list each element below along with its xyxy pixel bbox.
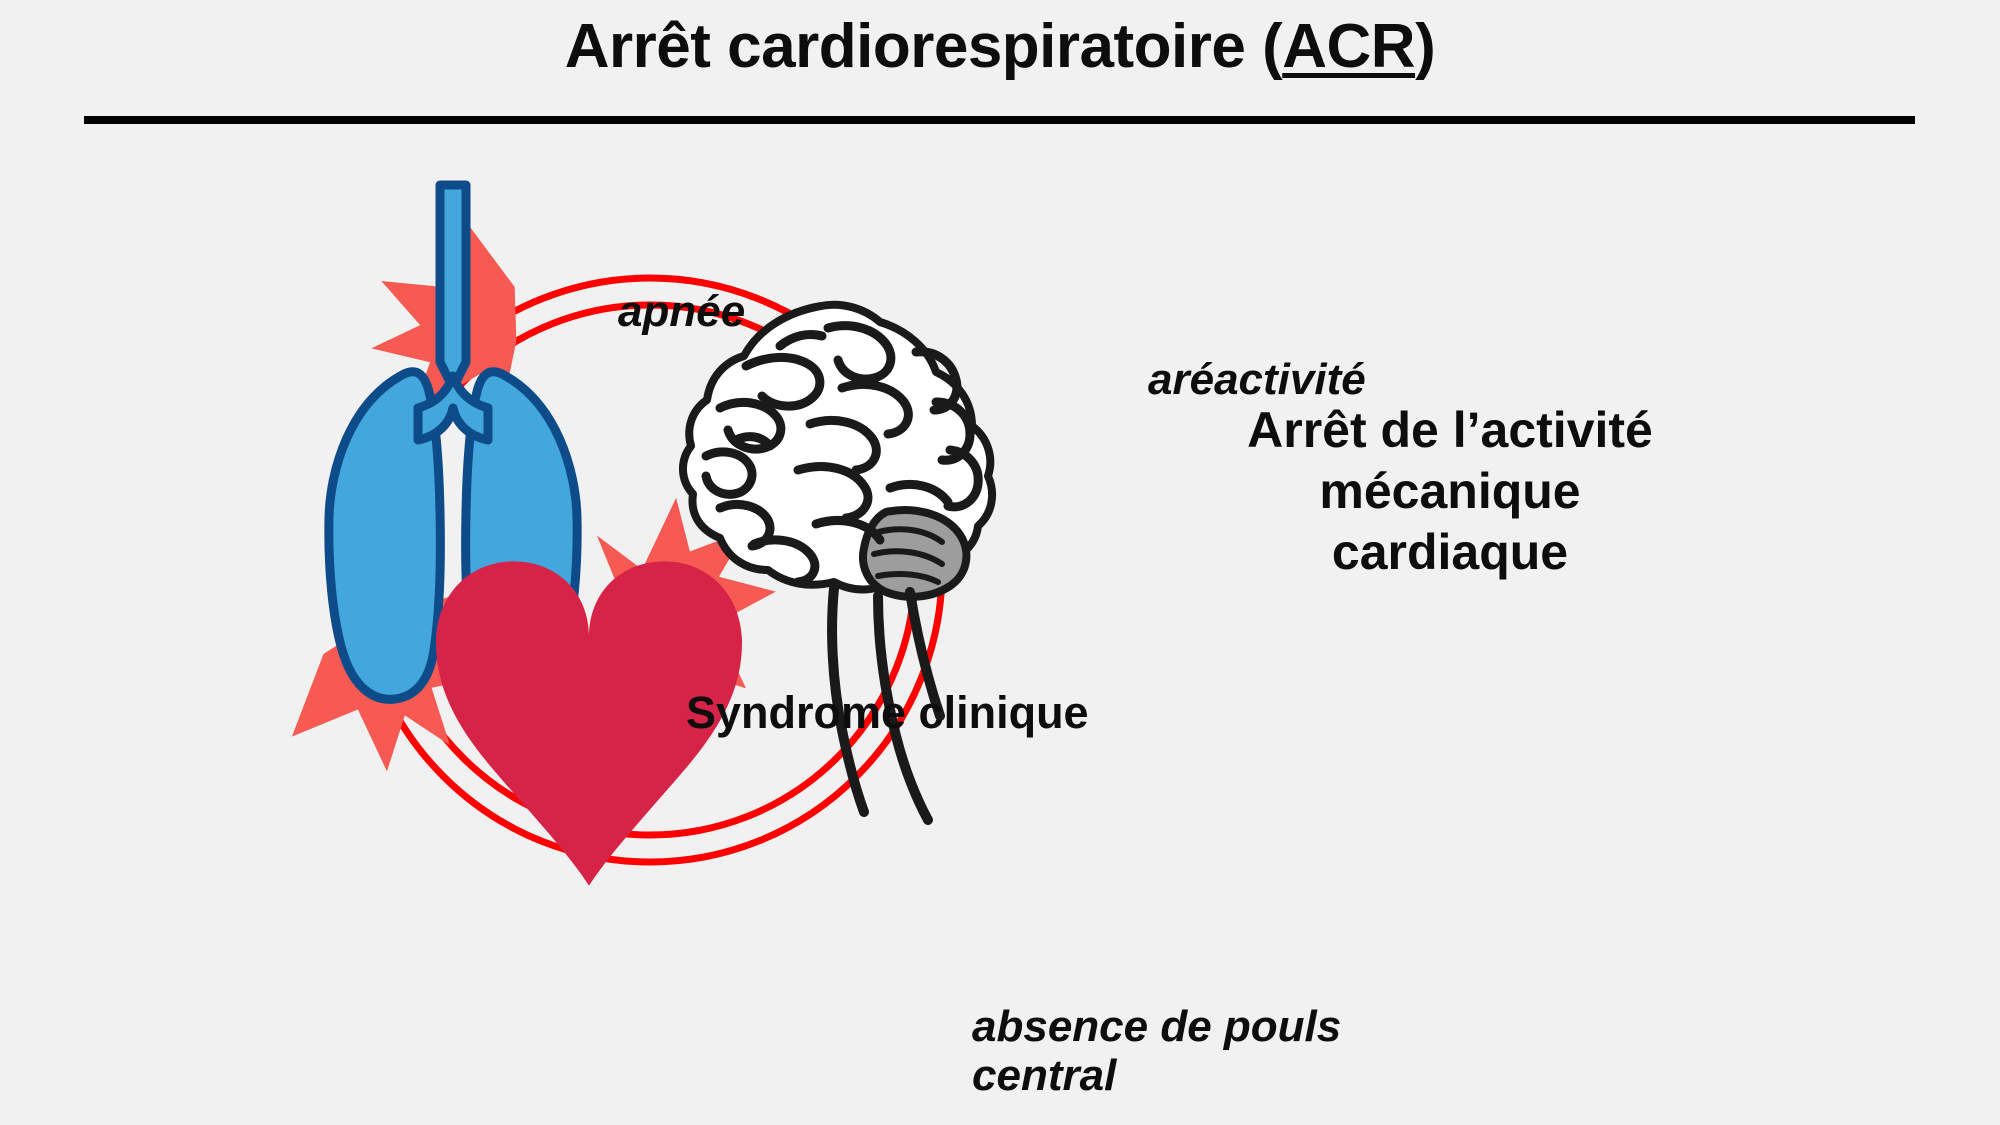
node-label-absence-pouls-central: absence de pouls central: [972, 1002, 1402, 1101]
slide-canvas: Arrêt cardiorespiratoire (ACR): [0, 0, 2000, 1125]
brain-icon: [683, 305, 992, 820]
page-title-prefix: Arrêt cardiorespiratoire (: [565, 12, 1282, 81]
page-title-suffix: ): [1415, 12, 1435, 81]
definition-statement: Arrêt de l’activité mécanique cardiaque: [1200, 400, 1700, 583]
node-label-areactivite: aréactivité: [1148, 355, 1366, 404]
diagram-center-label: Syndrome clinique: [686, 687, 1089, 739]
page-title-text: Arrêt cardiorespiratoire (ACR): [565, 14, 1435, 79]
page-title-abbreviation: ACR: [1282, 12, 1415, 81]
node-label-apnee: apnée: [618, 287, 745, 336]
page-title: Arrêt cardiorespiratoire (ACR): [0, 14, 2000, 79]
title-divider-rule: [84, 116, 1915, 124]
clinical-syndrome-cycle-diagram: apnée aréactivité absence de pouls centr…: [250, 140, 1200, 970]
